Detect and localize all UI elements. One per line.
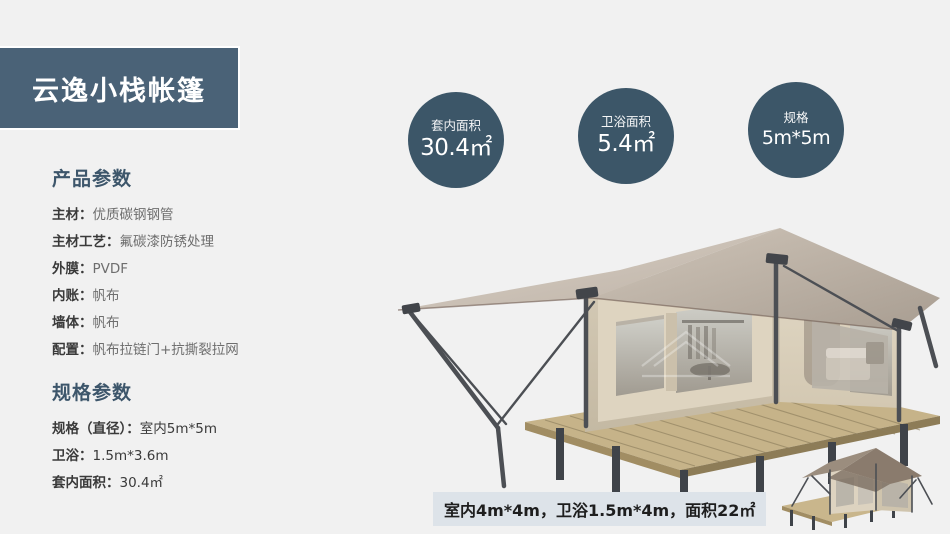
- image-caption-bar: 室内4m*4m，卫浴1.5m*4m，面积22㎡: [433, 492, 766, 526]
- spec-value: 帆布: [93, 288, 120, 304]
- badge-value: 5.4㎡: [597, 133, 655, 156]
- badge-caption: 套内面积: [431, 120, 481, 133]
- product-parameters-section: 产品参数 主材：优质碳钢钢管 主材工艺：氟碳漆防锈处理 外膜：PVDF 内账：帆…: [52, 164, 352, 364]
- spec-value: 优质碳钢钢管: [93, 207, 174, 223]
- spec-row: 墙体：帆布: [52, 310, 352, 337]
- spec-row: 主材：优质碳钢钢管: [52, 202, 352, 229]
- specification-parameters-section: 规格参数 规格（直径）：室内5m*5m 卫浴：1.5m*3.6m 套内面积：30…: [52, 378, 352, 497]
- spec-label: 主材工艺：: [52, 234, 120, 250]
- spec-label: 内账：: [52, 288, 93, 304]
- spec-label: 规格（直径）：: [52, 421, 140, 437]
- spec-value: 室内5m*5m: [140, 421, 217, 437]
- spec-row: 主材工艺：氟碳漆防锈处理: [52, 229, 352, 256]
- product-parameters-heading: 产品参数: [52, 164, 352, 191]
- badge-value: 30.4㎡: [420, 137, 492, 160]
- page-title: 云逸小栈帐篷: [32, 69, 206, 108]
- spec-value: PVDF: [93, 261, 129, 277]
- tent-inset-thumbnail: [772, 440, 942, 532]
- spec-row: 外膜：PVDF: [52, 256, 352, 283]
- title-banner: 云逸小栈帐篷: [0, 48, 238, 128]
- spec-value: 帆布拉链门+抗撕裂拉网: [93, 342, 239, 358]
- spec-label: 套内面积：: [52, 475, 120, 491]
- spec-value: 30.4㎡: [120, 475, 164, 491]
- spec-value: 帆布: [93, 315, 120, 331]
- badge-value: 5m*5m: [762, 129, 830, 148]
- spec-value: 1.5m*3.6m: [93, 448, 169, 464]
- badge-caption: 规格: [783, 112, 808, 125]
- image-caption-text: 室内4m*4m，卫浴1.5m*4m，面积22㎡: [444, 501, 755, 520]
- spec-row: 内账：帆布: [52, 283, 352, 310]
- spec-row: 套内面积：30.4㎡: [52, 470, 352, 497]
- spec-label: 外膜：: [52, 261, 93, 277]
- spec-row: 配置：帆布拉链门+抗撕裂拉网: [52, 337, 352, 364]
- spec-value: 氟碳漆防锈处理: [120, 234, 215, 250]
- spec-label: 配置：: [52, 342, 93, 358]
- badge-caption: 卫浴面积: [601, 116, 651, 129]
- spec-label: 主材：: [52, 207, 93, 223]
- spec-row: 卫浴：1.5m*3.6m: [52, 443, 352, 470]
- specification-column: 产品参数 主材：优质碳钢钢管 主材工艺：氟碳漆防锈处理 外膜：PVDF 内账：帆…: [52, 164, 352, 511]
- spec-row: 规格（直径）：室内5m*5m: [52, 416, 352, 443]
- spec-label: 墙体：: [52, 315, 93, 331]
- specification-parameters-heading: 规格参数: [52, 378, 352, 405]
- spec-label: 卫浴：: [52, 448, 93, 464]
- metric-badge-dimensions: 规格 5m*5m: [748, 82, 844, 178]
